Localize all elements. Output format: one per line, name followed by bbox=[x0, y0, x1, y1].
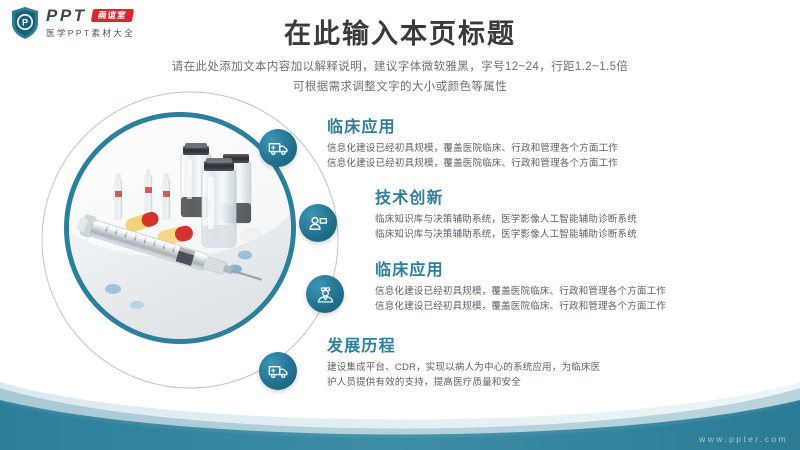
subtitle-line-2: 可根据需求调整文字的大小或颜色等属性 bbox=[0, 78, 800, 97]
block-icon-1[interactable] bbox=[259, 129, 297, 167]
block-icon-2[interactable] bbox=[299, 204, 337, 242]
block-line: 信息化建设已经初具规模，覆盖医院临床、行政和管理各个方面工作 bbox=[327, 141, 618, 156]
doctor-icon bbox=[315, 284, 336, 305]
block-line: 建设集成平台、CDR，实现以病人为中心的系统应用，为临床医 bbox=[327, 360, 600, 375]
block-line: 信息化建设已经初具规模，覆盖医院临床、行政和管理各个方面工作 bbox=[375, 299, 666, 314]
ambulance-icon bbox=[268, 361, 289, 382]
content-block-2: 技术创新 临床知识库与决策辅助系统，医学影像人工智能辅助诊断系统 临床知识库与决… bbox=[375, 190, 637, 242]
block-icon-3[interactable] bbox=[306, 275, 344, 313]
medical-photo-image bbox=[69, 117, 291, 339]
block-heading: 临床应用 bbox=[375, 262, 666, 280]
ambulance-icon bbox=[268, 138, 289, 159]
content-block-1: 临床应用 信息化建设已经初具规模，覆盖医院临床、行政和管理各个方面工作 信息化建… bbox=[327, 119, 618, 171]
block-line: 信息化建设已经初具规模，覆盖医院临床、行政和管理各个方面工作 bbox=[375, 284, 666, 299]
watermark-text: www.ppter.com bbox=[699, 434, 788, 444]
block-heading: 发展历程 bbox=[327, 338, 600, 356]
block-line: 信息化建设已经初具规模，覆盖医院临床、行政和管理各个方面工作 bbox=[327, 156, 618, 171]
block-heading: 技术创新 bbox=[375, 190, 637, 208]
block-line: 临床知识库与决策辅助系统，医学影像人工智能辅助诊断系统 bbox=[375, 227, 637, 242]
footer-wave: www.ppter.com bbox=[0, 380, 800, 450]
subtitle-line-1: 请在此处添加文本内容加以解释说明，建议字体微软雅黑，字号12~24，行距1.2~… bbox=[0, 58, 800, 77]
page-title: 在此输入本页标题 bbox=[0, 12, 800, 51]
content-block-3: 临床应用 信息化建设已经初具规模，覆盖医院临床、行政和管理各个方面工作 信息化建… bbox=[375, 262, 666, 314]
page-subtitle: 请在此处添加文本内容加以解释说明，建议字体微软雅黑，字号12~24，行距1.2~… bbox=[0, 58, 800, 97]
patient-bed-icon bbox=[308, 213, 329, 234]
block-heading: 临床应用 bbox=[327, 119, 618, 137]
block-line: 临床知识库与决策辅助系统，医学影像人工智能辅助诊断系统 bbox=[375, 212, 637, 227]
